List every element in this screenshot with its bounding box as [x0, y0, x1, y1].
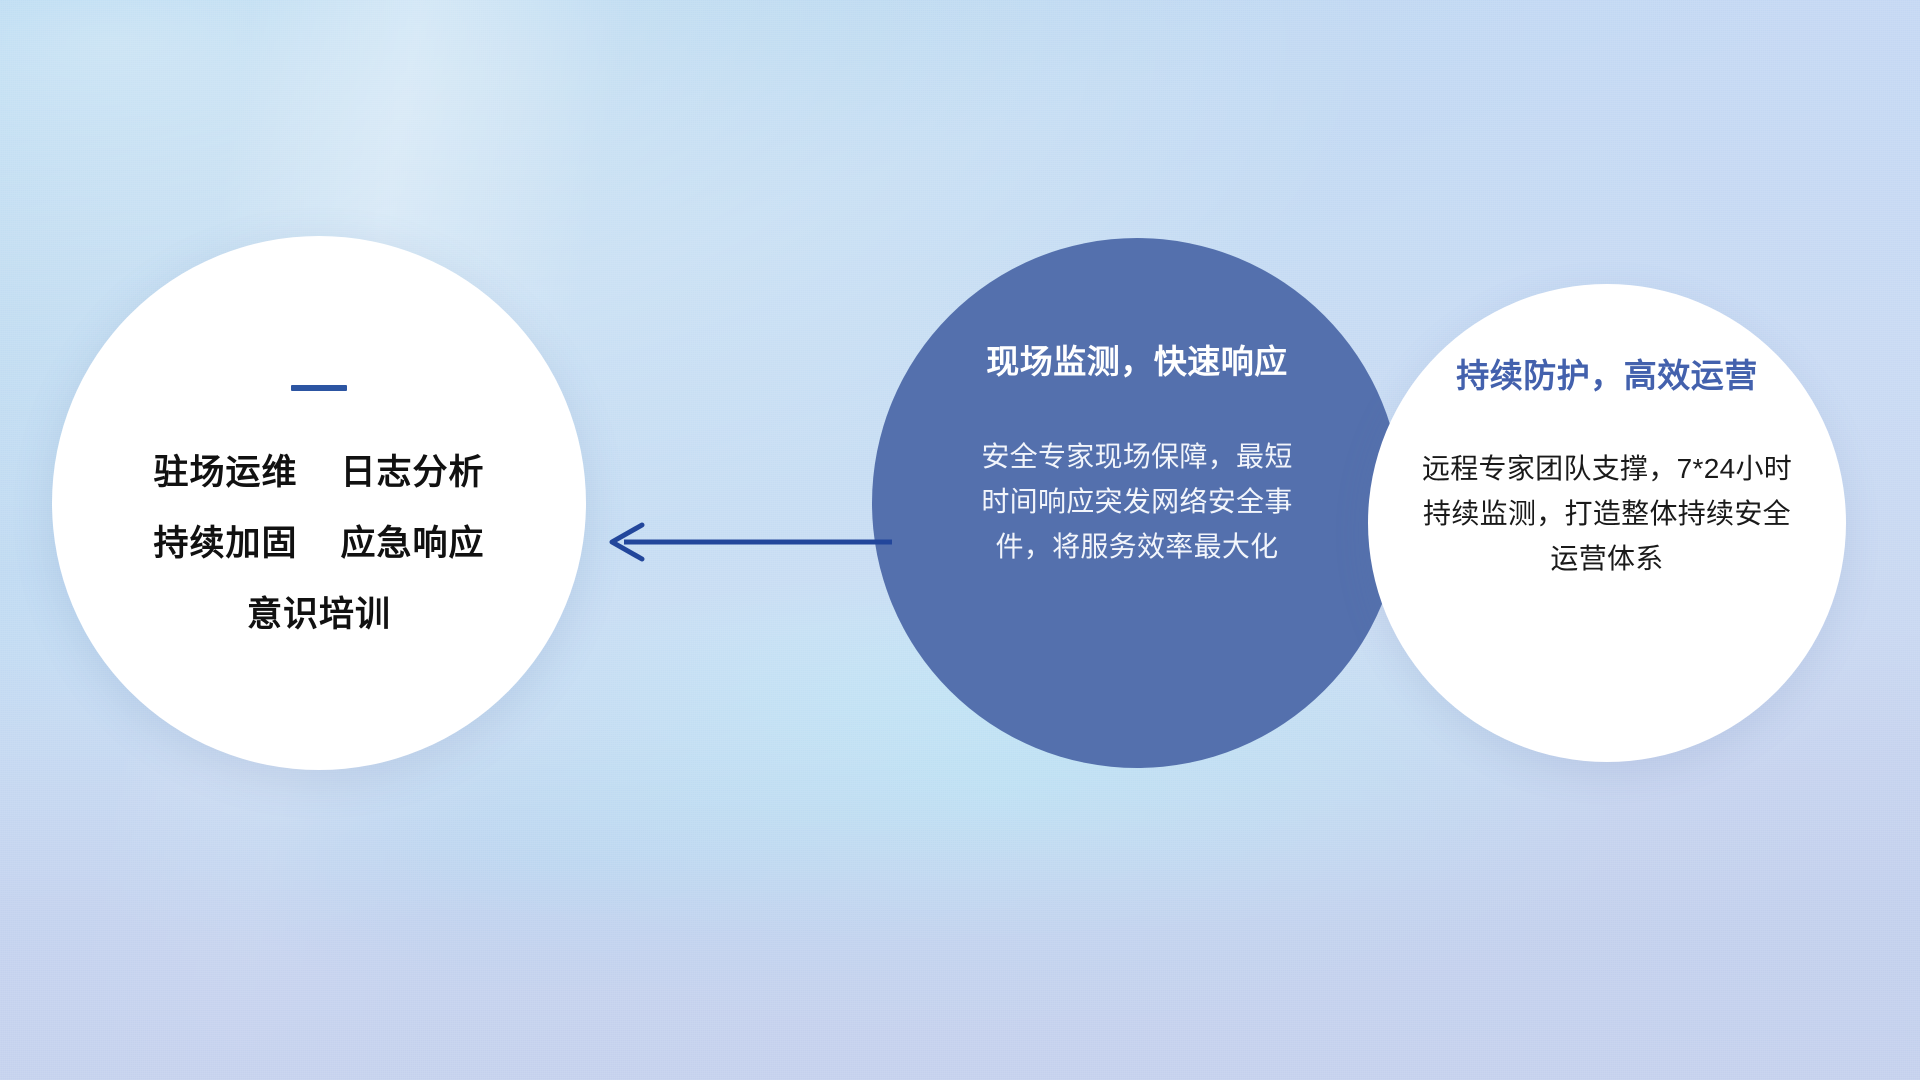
- left-keyword-line-2: 持续加固 应急响应: [154, 526, 485, 561]
- middle-highlight-card: 现场监测，快速响应 安全专家现场保障，最短时间响应突发网络安全事件，将服务效率最…: [872, 238, 1402, 768]
- left-keyword-line-1: 驻场运维 日志分析: [154, 455, 485, 490]
- right-card-body: 远程专家团队支撑，7*24小时持续监测，打造整体持续安全运营体系: [1410, 446, 1804, 582]
- left-service-keywords-card: 驻场运维 日志分析 持续加固 应急响应 意识培训: [52, 236, 586, 770]
- right-highlight-card: 持续防护，高效运营 远程专家团队支撑，7*24小时持续监测，打造整体持续安全运营…: [1368, 284, 1846, 762]
- middle-card-title: 现场监测，快速响应: [986, 342, 1288, 382]
- slide-canvas: 驻场运维 日志分析 持续加固 应急响应 意识培训 现场监测，快速响应 安全专家现…: [0, 0, 1920, 1080]
- horizontal-rule-icon: [291, 385, 347, 391]
- right-card-title: 持续防护，高效运营: [1456, 356, 1758, 396]
- middle-card-body: 安全专家现场保障，最短时间响应突发网络安全事件，将服务效率最大化: [972, 434, 1302, 570]
- left-keyword-line-3: 意识培训: [247, 597, 391, 632]
- arrow-left-icon: [596, 508, 896, 576]
